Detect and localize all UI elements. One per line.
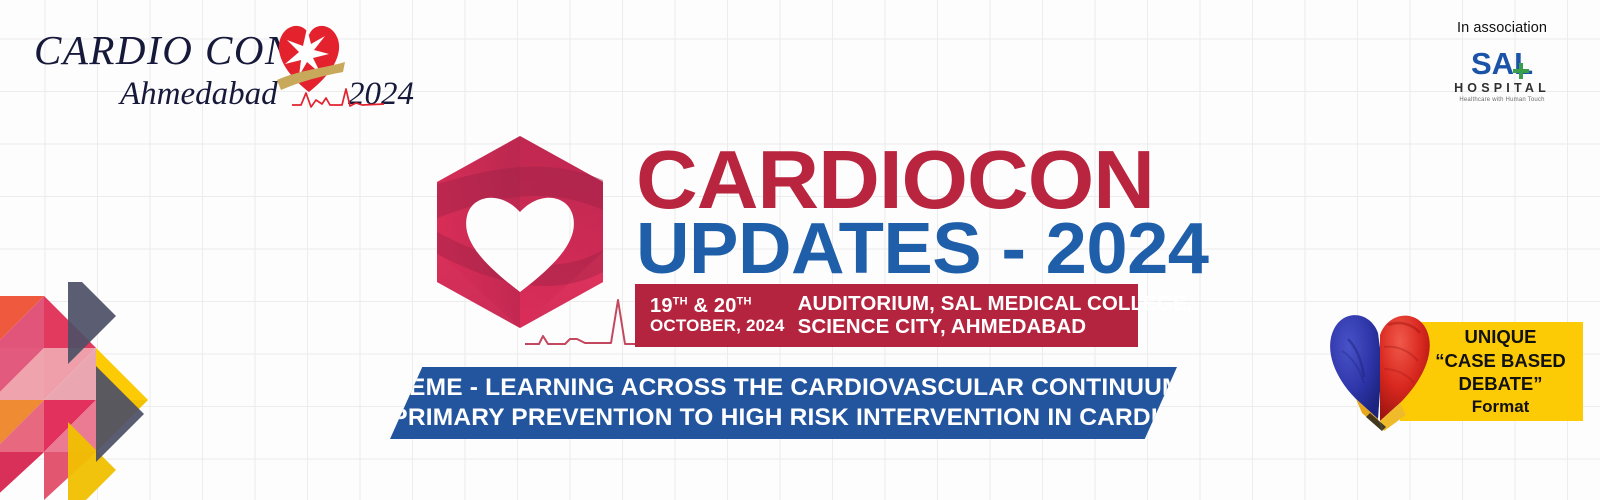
event-venue-block: AUDITORIUM, SAL MEDICAL COLLEGE, SCIENCE… — [798, 293, 1193, 339]
event-venue-line-1: AUDITORIUM, SAL MEDICAL COLLEGE, — [798, 293, 1193, 316]
cardiocon-wordmark: CARDIO CON Ahmedabad 2024 — [28, 14, 428, 114]
sal-tagline: Healthcare with Human Touch — [1422, 97, 1582, 103]
boxing-gloves-heart-icon — [1326, 303, 1434, 436]
conference-banner: CARDIO CON Ahmedabad 2024 In association… — [0, 0, 1600, 500]
badge-line-3: DEBATE” — [1459, 372, 1543, 396]
event-info-bar: 19TH & 20TH OCTOBER, 2024 AUDITORIUM, SA… — [635, 284, 1138, 347]
event-venue-line-2: SCIENCE CITY, AHMEDABAD — [798, 316, 1193, 339]
event-date-amp: & 20 — [688, 295, 737, 317]
theme-line-2: FROM PRIMARY PREVENTION TO HIGH RISK INT… — [311, 403, 1255, 433]
event-month-year: OCTOBER, 2024 — [650, 317, 785, 335]
sal-subtitle: HOSPITAL — [1422, 81, 1582, 95]
theme-banner: THEME - LEARNING ACROSS THE CARDIOVASCUL… — [390, 367, 1177, 439]
badge-line-2: “CASE BASED — [1435, 349, 1566, 373]
event-date-line: 19TH & 20TH — [650, 296, 785, 318]
medical-cross-icon — [1511, 55, 1531, 86]
event-day-1: 19 — [650, 295, 673, 317]
page-subtitle: UPDATES - 2024 — [636, 213, 1209, 285]
association-block: In association SAL HOSPITAL Healthcare w… — [1422, 20, 1582, 103]
wordmark-city: Ahmedabad — [120, 76, 278, 113]
triangle-mosaic-decoration — [0, 282, 200, 500]
event-date-block: 19TH & 20TH OCTOBER, 2024 — [635, 296, 785, 336]
wordmark-ecg-icon — [292, 86, 384, 115]
event-day-1-suffix: TH — [673, 295, 688, 307]
association-label: In association — [1422, 20, 1582, 36]
theme-line-1: THEME - LEARNING ACROSS THE CARDIOVASCUL… — [376, 373, 1191, 403]
sal-brand-text: SAL — [1471, 48, 1533, 79]
badge-line-1: UNIQUE — [1465, 325, 1537, 349]
sal-hospital-logo: SAL HOSPITAL Healthcare with Human Touch — [1422, 48, 1582, 103]
badge-line-4: Format — [1472, 396, 1530, 418]
hero-ecg-icon — [525, 292, 645, 353]
wordmark-title: CARDIO CON — [34, 26, 294, 74]
event-day-2-suffix: TH — [737, 295, 752, 307]
